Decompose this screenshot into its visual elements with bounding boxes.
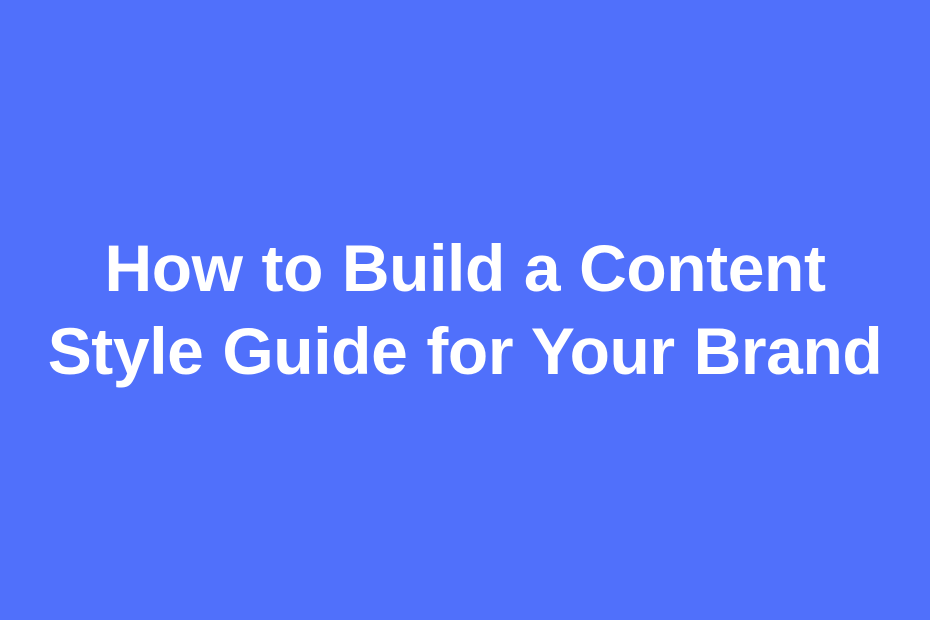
page-title-line-1: How to Build a Content bbox=[45, 227, 885, 310]
title-block: How to Build a Content Style Guide for Y… bbox=[35, 227, 895, 393]
page-title-line-2: Style Guide for Your Brand bbox=[45, 310, 885, 393]
page-title: How to Build a Content Style Guide for Y… bbox=[45, 227, 885, 393]
hero-card: How to Build a Content Style Guide for Y… bbox=[0, 0, 930, 620]
